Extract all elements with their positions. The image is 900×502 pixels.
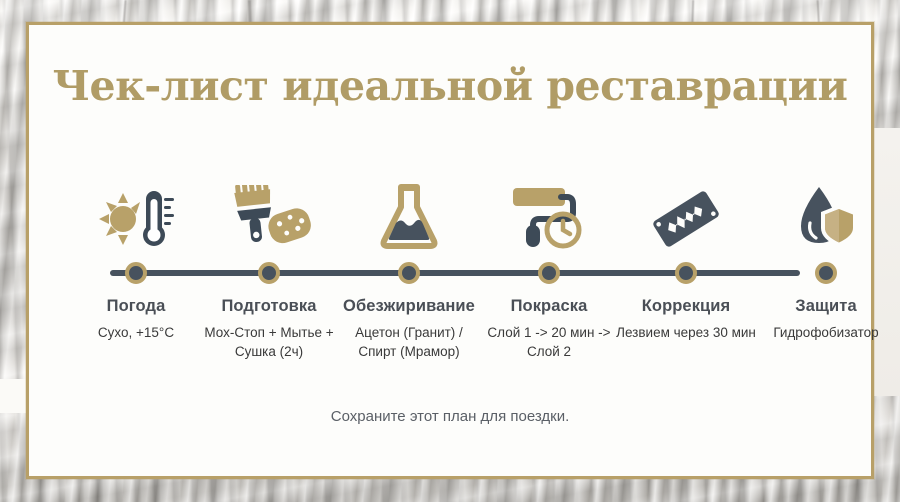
step-title: Защита [751, 297, 900, 316]
timeline-step-2[interactable]: Подготовка Мох-Стоп + Мытье + Сушка (2ч) [194, 175, 344, 255]
step-title: Покраска [474, 297, 624, 316]
timeline-dot [815, 262, 837, 284]
step-description: Сухо, +15°С [64, 323, 208, 342]
timeline-dot [125, 262, 147, 284]
timeline-step-6[interactable]: Защита Гидрофобизатор [751, 175, 900, 255]
brush-sponge-icon [194, 175, 344, 255]
razor-blade-icon [611, 175, 761, 255]
checklist-card: Чек-лист идеальной реставрации [26, 22, 874, 479]
step-description: Слой 1 -> 20 мин -> Слой 2 [477, 323, 621, 361]
step-title: Коррекция [611, 297, 761, 316]
step-title: Подготовка [194, 297, 344, 316]
step-description: Ацетон (Гранит) / Спирт (Мрамор) [337, 323, 481, 361]
timeline-step-5[interactable]: Коррекция Лезвием через 30 мин [611, 175, 761, 255]
droplet-shield-icon [751, 175, 900, 255]
timeline-dot [398, 262, 420, 284]
sun-thermometer-icon [61, 175, 211, 255]
flask-icon [334, 175, 484, 255]
timeline-dot [538, 262, 560, 284]
timeline-step-3[interactable]: Обезжиривание Ацетон (Гранит) / Спирт (М… [334, 175, 484, 255]
step-description: Гидрофобизатор [754, 323, 898, 342]
step-title: Обезжиривание [334, 297, 484, 316]
page-title: Чек-лист идеальной реставрации [29, 62, 871, 110]
timeline-step-4[interactable]: Покраска Слой 1 -> 20 мин -> Слой 2 [474, 175, 624, 255]
step-description: Мох-Стоп + Мытье + Сушка (2ч) [197, 323, 341, 361]
step-description: Лезвием через 30 мин [614, 323, 758, 342]
timeline: Погода Сухо, +15°С [29, 175, 877, 375]
footer-note: Сохраните этот план для поездки. [29, 408, 871, 425]
timeline-step-1[interactable]: Погода Сухо, +15°С [61, 175, 211, 255]
roller-clock-icon [474, 175, 624, 255]
timeline-dot [675, 262, 697, 284]
timeline-dot [258, 262, 280, 284]
slide-canvas: Чек-лист идеальной реставрации [0, 0, 900, 502]
step-title: Погода [61, 297, 211, 316]
